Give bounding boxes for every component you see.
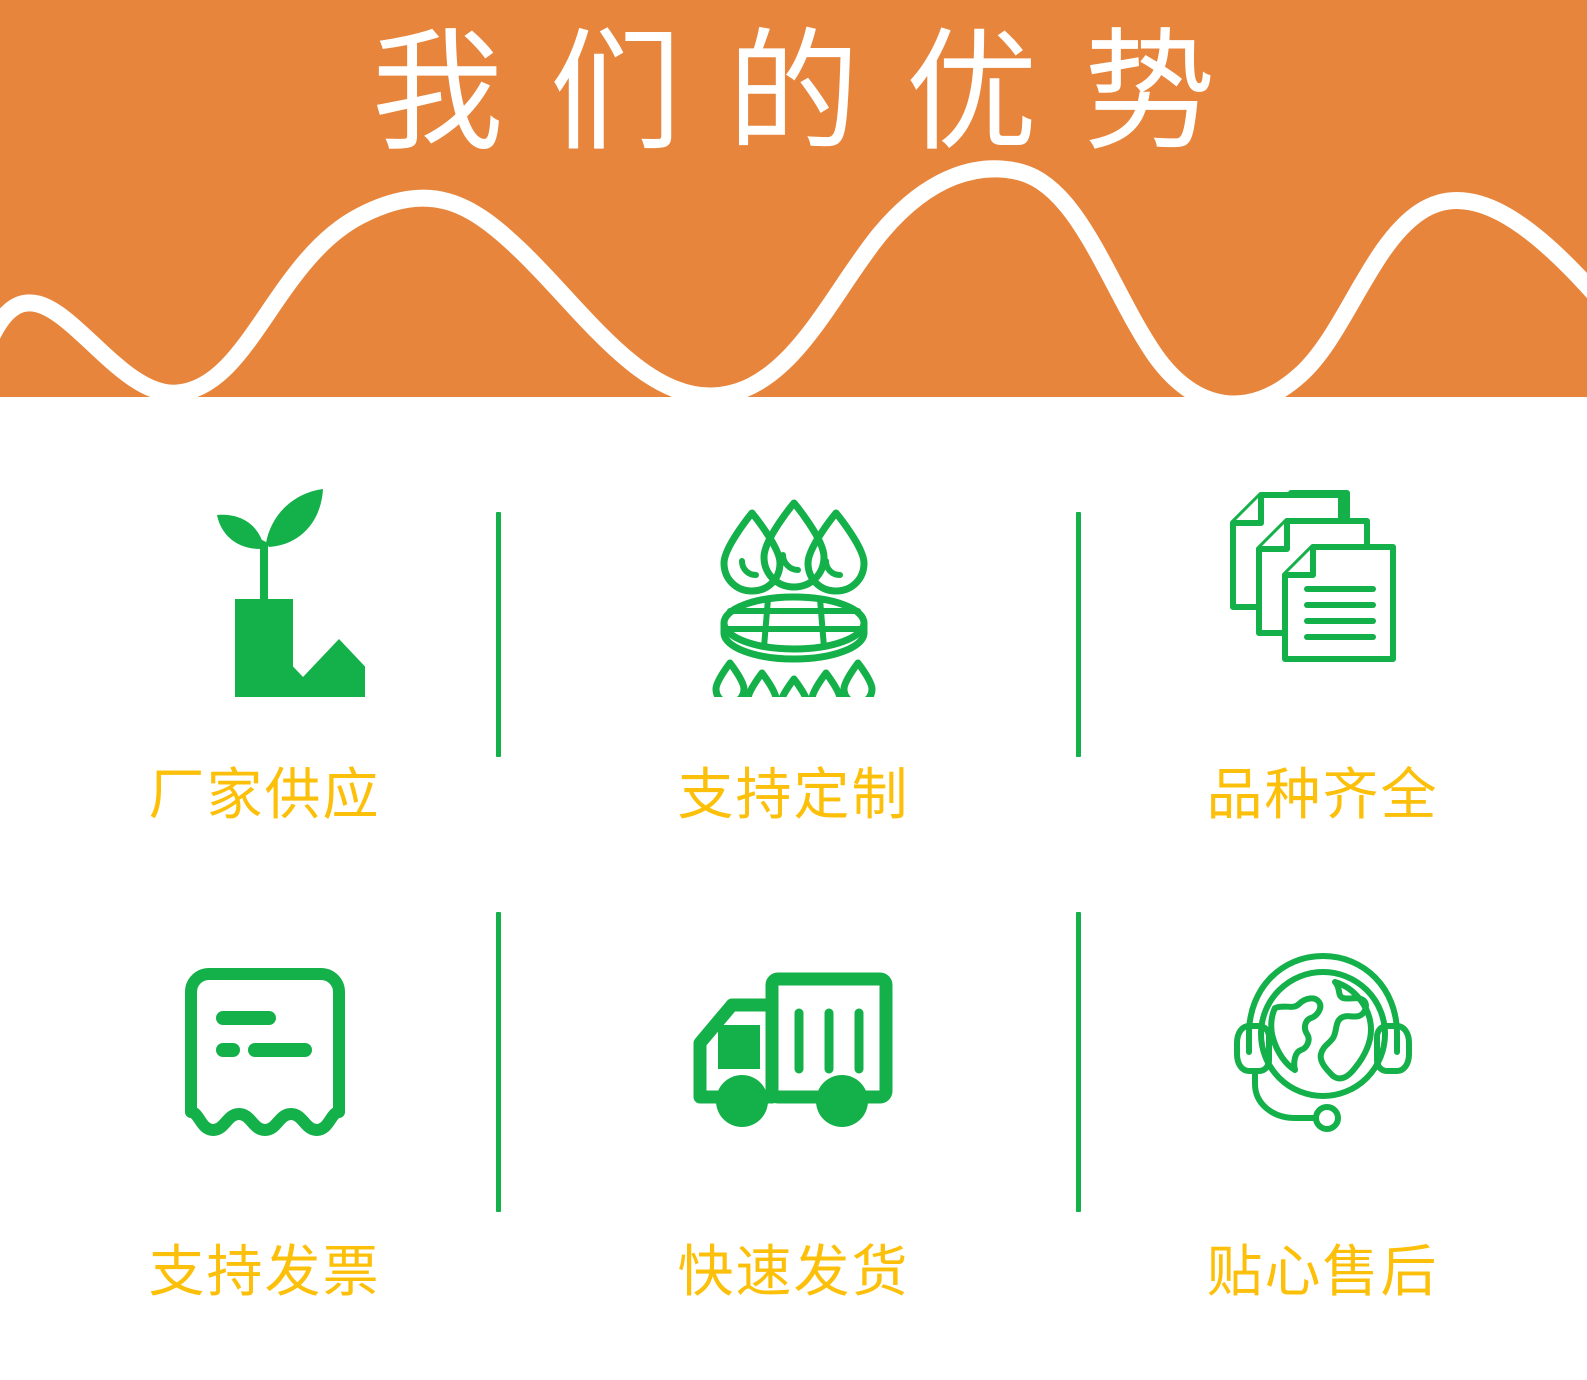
feature-item-factory[interactable]: 厂家供应 bbox=[0, 397, 529, 857]
feature-label: 贴心售后 bbox=[1207, 1242, 1439, 1304]
feature-label: 支持定制 bbox=[678, 765, 910, 827]
feature-label: 厂家供应 bbox=[149, 765, 381, 827]
invoice-receipt-icon bbox=[165, 962, 365, 1142]
delivery-truck-icon bbox=[686, 967, 901, 1142]
feature-item-shipping[interactable]: 快速发货 bbox=[529, 857, 1058, 1377]
feature-label: 品种齐全 bbox=[1207, 765, 1439, 827]
features-row-bottom: 支持发票 bbox=[0, 857, 1587, 1377]
icon-container bbox=[165, 467, 365, 697]
icon-container bbox=[1223, 467, 1423, 697]
advantages-banner: 我们的优势 bbox=[0, 0, 1587, 1380]
icon-container bbox=[165, 912, 365, 1142]
icon-container bbox=[1223, 912, 1423, 1142]
factory-plant-icon bbox=[165, 487, 365, 697]
feature-item-variety[interactable]: 品种齐全 bbox=[1058, 397, 1587, 857]
feature-item-invoice[interactable]: 支持发票 bbox=[0, 857, 529, 1377]
globe-headset-support-icon bbox=[1223, 942, 1423, 1142]
header-banner: 我们的优势 bbox=[0, 0, 1587, 397]
feature-label: 快速发货 bbox=[678, 1242, 910, 1304]
water-droplets-filter-icon bbox=[694, 497, 894, 697]
page-title: 我们的优势 bbox=[0, 18, 1587, 168]
features-row-top: 厂家供应 bbox=[0, 397, 1587, 857]
icon-container bbox=[694, 467, 894, 697]
features-grid: 厂家供应 bbox=[0, 397, 1587, 1380]
stacked-documents-icon bbox=[1223, 487, 1423, 697]
feature-item-aftersales[interactable]: 贴心售后 bbox=[1058, 857, 1587, 1377]
icon-container bbox=[686, 912, 901, 1142]
decorative-wave bbox=[0, 150, 1587, 397]
feature-item-customization[interactable]: 支持定制 bbox=[529, 397, 1058, 857]
feature-label: 支持发票 bbox=[149, 1242, 381, 1304]
